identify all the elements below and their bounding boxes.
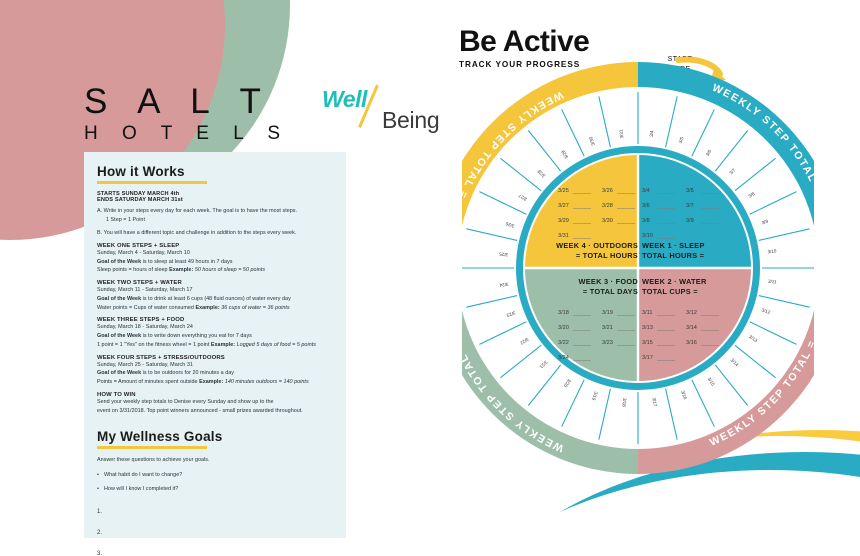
info-panel: How it Works STARTS SUNDAY MARCH 4th END…: [84, 152, 346, 538]
quadrant-label-week2-line1: WEEK 2 · WATER: [642, 277, 707, 286]
quadrant-date-week4[interactable]: 3/30: [602, 218, 613, 224]
week-dates-1: Sunday, March 4 - Saturday, March 10: [97, 249, 333, 258]
week-dates-3: Sunday, March 18 - Saturday, March 24: [97, 323, 333, 332]
wellness-number-3: 3.: [97, 551, 333, 556]
week-goal-2: Goal of the Week is to drink at least 6 …: [97, 295, 333, 304]
quadrant-date-week4[interactable]: 3/31: [558, 233, 569, 239]
decor-bottom-right-white-2: [420, 470, 860, 556]
how-to-win-line-2: event on 3/31/2018. Top point winners an…: [97, 407, 333, 416]
quadrant-date-week1[interactable]: 3/7: [686, 203, 694, 209]
quadrant-label-week1-line1: WEEK 1 · SLEEP: [642, 241, 705, 250]
logo-well-text: Well: [322, 86, 367, 113]
quadrant-date-week3[interactable]: 3/19: [602, 310, 613, 316]
wellness-goals-title: My Wellness Goals: [97, 429, 333, 444]
quadrant-date-week4[interactable]: 3/26: [602, 188, 613, 194]
week-points-2: Water points = Cups of water consumed Ex…: [97, 304, 333, 313]
quadrant-date-week4[interactable]: 3/25: [558, 188, 569, 194]
page-title: Be Active: [459, 27, 589, 57]
wellness-bullets: What habit do I want to change?How will …: [97, 471, 333, 495]
left-column: S A L T H O T E L S Well Being How it Wo…: [0, 0, 430, 556]
quadrant-date-week1[interactable]: 3/10: [642, 233, 653, 239]
progress-wheel[interactable]: 3/43/53/63/73/83/93/103/113/123/133/143/…: [462, 62, 814, 474]
instruction-a-sub: 1 Step = 1 Point: [97, 216, 333, 225]
quadrant-date-week2[interactable]: 3/14: [686, 325, 697, 331]
wellness-bullet-1: What habit do I want to change?: [97, 471, 333, 480]
quadrant-label-week4-line1: WEEK 4 · OUTDOORS: [556, 241, 638, 250]
how-to-win-line-1: Send your weekly step totals to Denise e…: [97, 398, 333, 407]
day-cell-label[interactable]: 3/17: [652, 397, 658, 407]
quadrant-date-week2[interactable]: 3/12: [686, 310, 697, 316]
quadrant-date-week3[interactable]: 3/24: [558, 355, 569, 361]
week-points-1: Sleep points = hours of sleep Example: 5…: [97, 266, 333, 275]
wellness-number-2: 2.: [97, 530, 333, 536]
how-it-works-title: How it Works: [97, 164, 333, 179]
quadrant-label-week3-line2: = TOTAL DAYS: [583, 287, 638, 296]
quadrant-date-week2[interactable]: 3/11: [642, 310, 652, 316]
week-points-3: 1 point = 1 "Yes" on the fitness wheel =…: [97, 341, 333, 350]
wellness-numbered-lines: 1.2.3.: [97, 509, 333, 556]
poster-canvas: S A L T H O T E L S Well Being How it Wo…: [0, 0, 860, 556]
day-cell-label[interactable]: 3/18: [621, 398, 627, 408]
instruction-a: A. Write in your steps every day for eac…: [97, 207, 333, 216]
quadrant-date-week2[interactable]: 3/13: [642, 325, 653, 331]
quadrant-date-week4[interactable]: 3/27: [558, 203, 569, 209]
weeks-list: WEEK ONE STEPS + SLEEPSunday, March 4 - …: [97, 243, 333, 387]
brand-logo: S A L T H O T E L S Well Being: [84, 84, 374, 140]
week-dates-2: Sunday, March 11 - Saturday, March 17: [97, 286, 333, 295]
wellness-underline: [97, 446, 207, 449]
quadrant-date-week1[interactable]: 3/8: [642, 218, 650, 224]
day-cell-label[interactable]: 3/31: [618, 129, 624, 139]
quadrant-date-week3[interactable]: 3/20: [558, 325, 569, 331]
wheel-graphic[interactable]: 3/43/53/63/73/83/93/103/113/123/133/143/…: [462, 62, 814, 474]
wellness-number-1: 1.: [97, 509, 333, 515]
day-cell-label[interactable]: 3/11: [768, 279, 778, 285]
quadrant-date-week2[interactable]: 3/15: [642, 340, 653, 346]
day-cell-label[interactable]: 3/24: [499, 282, 509, 288]
title-underline: [97, 181, 207, 184]
logo-being-text: Being: [382, 107, 439, 134]
quadrant-date-week2[interactable]: 3/17: [642, 355, 653, 361]
quadrant-date-week1[interactable]: 3/9: [686, 218, 694, 224]
wellness-intro: Answer these questions to achieve your g…: [97, 456, 333, 465]
week-goal-3: Goal of the Week is to write down everyt…: [97, 332, 333, 341]
quadrant-date-week1[interactable]: 3/6: [642, 203, 650, 209]
ends-date: ENDS SATURDAY MARCH 31st: [97, 197, 333, 203]
quadrant-label-week3-line1: WEEK 3 · FOOD: [578, 277, 638, 286]
quadrant-date-week4[interactable]: 3/28: [602, 203, 613, 209]
quadrant-label-week1-line2: TOTAL HOURS =: [642, 251, 705, 260]
quadrant-date-week2[interactable]: 3/16: [686, 340, 697, 346]
quadrant-date-week3[interactable]: 3/23: [602, 340, 613, 346]
day-cell-label[interactable]: 3/25: [499, 251, 509, 257]
quadrant-date-week3[interactable]: 3/18: [558, 310, 569, 316]
day-cell-label[interactable]: 3/10: [767, 248, 777, 254]
instruction-b: B. You will have a different topic and c…: [97, 229, 333, 238]
wellness-bullet-2: How will I know I completed it?: [97, 485, 333, 494]
quadrant-label-week4-line2: = TOTAL HOURS: [576, 251, 638, 260]
day-cell-label[interactable]: 3/4: [649, 130, 655, 137]
quadrant-date-week1[interactable]: 3/4: [642, 188, 650, 194]
quadrant-date-week1[interactable]: 3/5: [686, 188, 694, 194]
quadrant-date-week3[interactable]: 3/21: [602, 325, 613, 331]
week-goal-1: Goal of the Week is to sleep at least 49…: [97, 258, 333, 267]
quadrant-label-week2-line2: TOTAL CUPS =: [642, 287, 698, 296]
logo-wellbeing: Well Being: [322, 86, 452, 138]
week-dates-4: Sunday, March 25 - Saturday, March 31: [97, 361, 333, 370]
quadrant-date-week4[interactable]: 3/29: [558, 218, 569, 224]
week-points-4: Points = Amount of minutes spent outside…: [97, 378, 333, 387]
week-goal-4: Goal of the Week is to be outdoors for 2…: [97, 369, 333, 378]
quadrant-date-week3[interactable]: 3/22: [558, 340, 569, 346]
